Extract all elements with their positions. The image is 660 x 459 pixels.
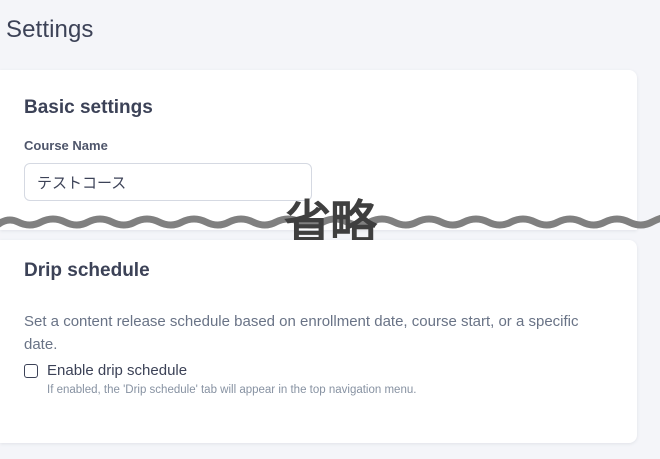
drip-schedule-description: Set a content release schedule based on … (24, 310, 596, 356)
drip-schedule-card: Drip schedule Set a content release sche… (0, 240, 637, 443)
drip-schedule-heading: Drip schedule (24, 259, 150, 283)
basic-settings-card: Basic settings Course Name (0, 70, 637, 230)
basic-settings-heading: Basic settings (24, 96, 153, 120)
enable-drip-schedule-checkbox[interactable] (24, 364, 38, 378)
course-name-label: Course Name (24, 138, 108, 154)
enable-drip-schedule-help-text: If enabled, the 'Drip schedule' tab will… (47, 383, 416, 398)
enable-drip-schedule-label[interactable]: Enable drip schedule (47, 361, 187, 381)
course-name-input[interactable] (24, 163, 312, 201)
page-title: Settings (6, 15, 94, 45)
